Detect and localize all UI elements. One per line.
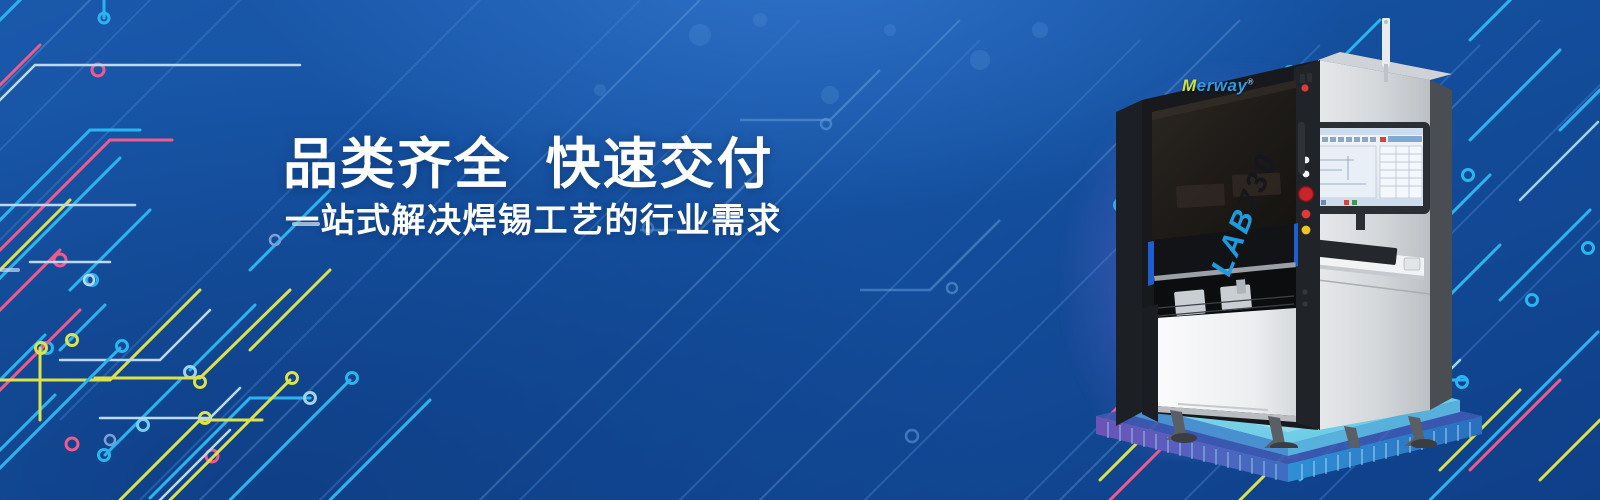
hero-copy: 品类齐全 快速交付 一站式解决焊锡工艺的行业需求 — [283, 136, 782, 241]
brand-logo-merway: Merway® — [1182, 76, 1254, 96]
product-stage — [1020, 0, 1600, 500]
hero-headline: 品类齐全 快速交付 — [283, 136, 782, 193]
hero-banner: 品类齐全 快速交付 一站式解决焊锡工艺的行业需求 — [0, 0, 1600, 500]
hero-subline: 一站式解决焊锡工艺的行业需求 — [285, 203, 782, 240]
brand-rest: erway — [1197, 76, 1248, 95]
registered-mark: ® — [1247, 77, 1253, 86]
brand-initial: M — [1182, 76, 1197, 95]
lab730-machine — [1108, 18, 1468, 448]
